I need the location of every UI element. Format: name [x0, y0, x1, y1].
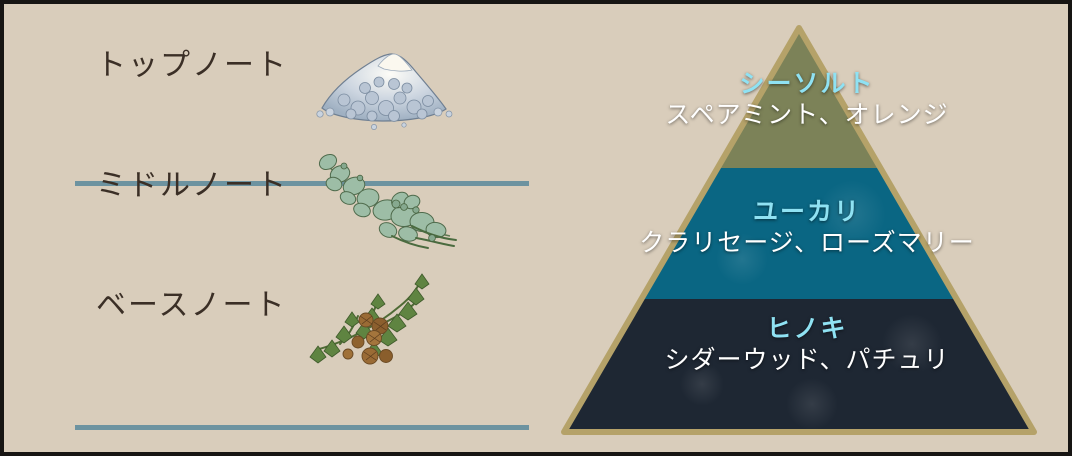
note-row-top: トップノート: [4, 22, 564, 142]
note-label-base: ベースノート: [96, 280, 287, 324]
note-row-middle: ミドルノート: [4, 142, 564, 262]
note-divider-2: [75, 425, 529, 430]
notes-column: トップノート: [4, 4, 564, 452]
pyramid-band-middle-fill: [552, 168, 1062, 299]
note-label-middle: ミドルノート: [96, 160, 288, 204]
hinoki-cypress-branch-illustration: [304, 264, 464, 374]
fragrance-note-pyramid-infographic: トップノート: [0, 0, 1072, 456]
pyramid-graphic: [552, 14, 1062, 444]
eucalyptus-branch-illustration: [304, 144, 464, 254]
fragrance-pyramid: シーソルト スペアミント、オレンジ ユーカリ クラリセージ、ローズマリー ヒノキ…: [552, 14, 1062, 444]
sea-salt-pile-illustration: [304, 24, 464, 134]
note-label-top: トップノート: [96, 40, 288, 84]
note-row-base: ベースノート: [4, 262, 564, 382]
